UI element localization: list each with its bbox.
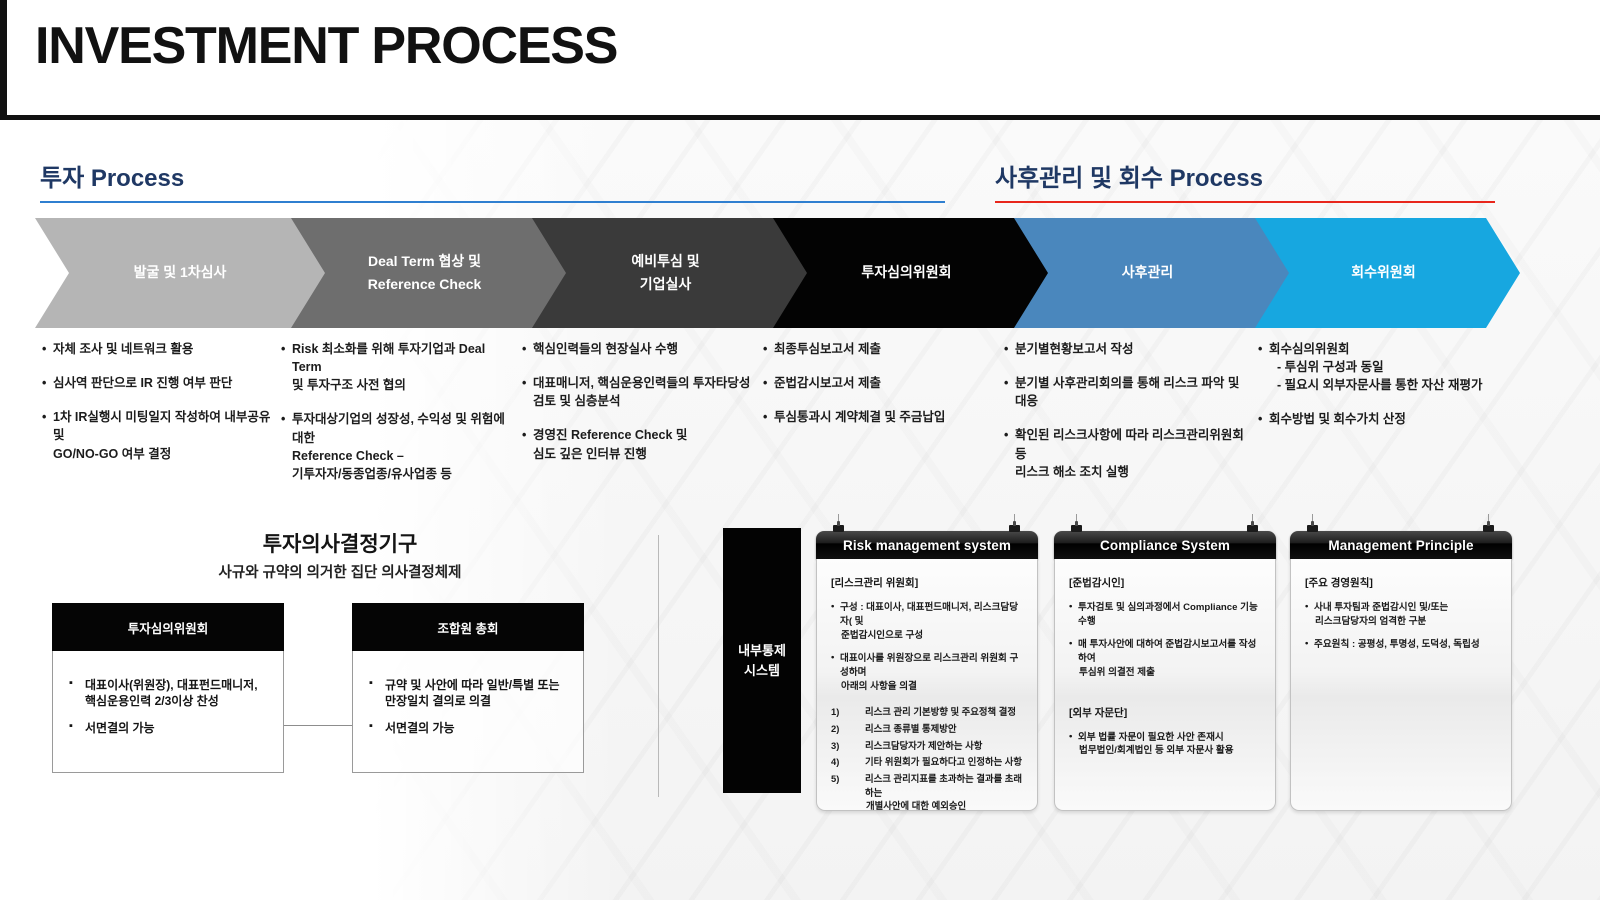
pin-icon [830,514,848,534]
org-box-item-text: 서면결의 가능 [85,721,155,735]
process-stage-label-line: Deal Term 협상 및 [368,250,482,273]
panel-group-title: [주요 경영원칙] [1305,575,1499,590]
process-stage-5[interactable]: 사후관리 [1006,218,1289,328]
stage-bullet-item: 심사역 판단으로 IR 진행 여부 판단 [42,374,274,392]
org-box-item: 서면결의 가능 [369,720,569,736]
panel-bullet-text: 주요원칙 : 공평성, 투명성, 도덕성, 독립성 [1314,639,1480,650]
stage-bullet-item: 대표매니저, 핵심운용인력들의 투자타당성검토 및 심층분석 [522,374,754,410]
process-stage-label: 예비투심 및기업실사 [605,250,725,296]
stage-bullet-continuation: Reference Check – [292,447,513,465]
stage-bullet-subitem: - 투심위 구성과 동일 [1269,358,1513,376]
stage-bullet-item: 투심통과시 계약체결 및 주금납입 [763,408,995,426]
panel-bullet-item: 매 투자사안에 대하여 준법감시보고서를 작성하여투심위 의결전 제출 [1069,638,1263,680]
stage-bullet-item: 확인된 리스크사항에 따라 리스크관리위원회 등리스크 해소 조치 실행 [1004,426,1244,480]
pin-icon [1480,514,1498,534]
stage-bullet-item: 경영진 Reference Check 및심도 깊은 인터뷰 진행 [522,426,754,462]
org-box-2[interactable]: 조합원 총회규약 및 사안에 따라 일반/특별 또는만장일치 결의로 의결서면결… [352,603,584,773]
process-stage-label-line: 예비투심 및 [631,250,699,273]
stage-bullet-item: 핵심인력들의 현장실사 수행 [522,340,754,358]
process-stage-label-line: 투자심의위원회 [861,261,951,284]
panel-bullet-continuation: 리스크담당자의 엄격한 구분 [1314,615,1499,629]
panel-bullet-item: 구성 : 대표이사, 대표펀드매니저, 리스크담당자( 및준법감시인으로 구성 [831,601,1025,643]
process-stage-label-line: 회수위원회 [1351,261,1415,284]
page-title: INVESTMENT PROCESS [35,16,617,76]
stage-bullet-subitem: - 필요시 외부자문사를 통한 자산 재평가 [1269,376,1513,394]
section-rule-post-management [995,201,1495,203]
panel-bullet-continuation: 투심위 의결전 제출 [1078,666,1263,680]
panel-bullet-continuation: 아래의 사항을 의결 [840,680,1025,694]
stage-bullet-item: 최종투심보고서 제출 [763,340,995,358]
pin-icon [1068,514,1086,534]
panel-group-title: [리스크관리 위원회] [831,575,1025,590]
panel-bullet-text: 구성 : 대표이사, 대표펀드매니저, 리스크담당자( 및 [840,602,1018,627]
org-connector-line [283,725,353,726]
panel-group-title: [준법감시인] [1069,575,1263,590]
panel-bullet-item: 주요원칙 : 공평성, 투명성, 도덕성, 독립성 [1305,638,1499,652]
panel-numbered-item: 리스크담당자가 제안하는 사항 [831,739,1025,753]
org-box-item-text: 대표이사(위원장), 대표펀드매니저, [85,678,258,692]
org-box-item-continuation: 만장일치 결의로 의결 [385,693,569,709]
stage-bullet-list-6: 회수심의위원회- 투심위 구성과 동일- 필요시 외부자문사를 통한 자산 재평… [1258,340,1513,445]
panel-title: Management Principle [1290,531,1512,559]
process-stage-label: 사후관리 [1096,261,1200,284]
org-box-item-text: 규약 및 사안에 따라 일반/특별 또는 [385,678,560,692]
stage-bullet-text: 분기별현황보고서 작성 [1015,342,1133,356]
org-box-item-text: 서면결의 가능 [385,721,455,735]
stage-bullet-list-2: Risk 최소화를 위해 투자기업과 Deal Term및 투자구조 사전 협의… [281,340,513,499]
org-box-item: 규약 및 사안에 따라 일반/특별 또는만장일치 결의로 의결 [369,677,569,709]
stage-bullet-text: 1차 IR실행시 미팅일지 작성하여 내부공유 및 [53,410,270,442]
stage-bullet-text: 확인된 리스크사항에 따라 리스크관리위원회 등 [1015,428,1244,460]
process-stage-label-line: 발굴 및 1차심사 [134,261,227,284]
stage-bullet-item: 투자대상기업의 성장성, 수익성 및 위험에 대한Reference Check… [281,410,513,483]
panel-bullet-list: 투자검토 및 심의과정에서 Compliance 기능 수행매 투자사안에 대하… [1069,601,1263,680]
process-stage-label: 발굴 및 1차심사 [108,261,253,284]
panel-bullet-text: 매 투자사안에 대하여 준법감시보고서를 작성하여 [1078,639,1256,664]
panel-hanging-pins [1054,514,1276,534]
section-divider [658,535,659,797]
panel-compliance-system[interactable]: Compliance System[준법감시인]투자검토 및 심의과정에서 Co… [1054,531,1276,811]
stage-bullet-item: 1차 IR실행시 미팅일지 작성하여 내부공유 및GO/NO-GO 여부 결정 [42,408,274,462]
process-stage-label-line: Reference Check [368,273,482,296]
panel-numbered-item: 리스크 종류별 통제방안 [831,722,1025,736]
org-box-item: 대표이사(위원장), 대표펀드매니저,핵심운용인력 2/3이상 찬성 [69,677,269,709]
process-stage-band: 발굴 및 1차심사Deal Term 협상 및Reference Check예비… [0,218,1600,328]
panel-spacer [1069,689,1263,705]
pin-icon [1304,514,1322,534]
stage-bullet-item: 준법감시보고서 제출 [763,374,995,392]
panel-numbered-text: 기타 위원회가 필요하다고 인정하는 사항 [865,756,1022,767]
stage-bullet-list-3: 핵심인력들의 현장실사 수행대표매니저, 핵심운용인력들의 투자타당성검토 및 … [522,340,754,479]
stage-bullet-text: 투자대상기업의 성장성, 수익성 및 위험에 대한 [292,412,505,444]
stage-bullet-list-5: 분기별현황보고서 작성분기별 사후관리회의를 통해 리스크 파악 및 대응확인된… [1004,340,1244,497]
process-stage-2[interactable]: Deal Term 협상 및Reference Check [283,218,566,328]
page-header: INVESTMENT PROCESS [0,0,1600,120]
panel-body: [리스크관리 위원회]구성 : 대표이사, 대표펀드매니저, 리스크담당자( 및… [816,559,1038,811]
stage-bullet-continuation: 검토 및 심층분석 [533,392,754,410]
panel-bullet-continuation: 법무법인/회계법인 등 외부 자문사 활용 [1078,744,1263,758]
stage-bullet-text: 핵심인력들의 현장실사 수행 [533,342,678,356]
stage-bullet-continuation: 리스크 해소 조치 실행 [1015,463,1244,481]
process-stage-label: Deal Term 협상 및Reference Check [342,250,508,296]
stage-bullet-text: 경영진 Reference Check 및 [533,428,687,442]
panel-risk-management-system[interactable]: Risk management system[리스크관리 위원회]구성 : 대표… [816,531,1038,811]
panel-management-principle[interactable]: Management Principle[주요 경영원칙]사내 투자팀과 준법감… [1290,531,1512,811]
org-box-1[interactable]: 투자심의위원회대표이사(위원장), 대표펀드매니저,핵심운용인력 2/3이상 찬… [52,603,284,773]
decision-org-title: 투자의사결정기구 [60,528,620,558]
internal-control-line-2: 시스템 [744,663,780,678]
internal-control-line-1: 내부통제 [738,643,786,658]
panel-bullet-text: 사내 투자팀과 준법감시인 및/또는 [1314,602,1448,613]
panel-title: Compliance System [1054,531,1276,559]
stage-bullet-continuation: 기투자자/동종업종/유사업종 등 [292,465,513,483]
panel-bullet-text: 투자검토 및 심의과정에서 Compliance 기능 수행 [1078,602,1258,627]
panel-numbered-item: 리스크 관리 기본방향 및 주요정책 결정 [831,705,1025,719]
panel-bullet-text: 외부 법률 자문이 필요한 사안 존재시 [1078,732,1224,743]
stage-bullet-continuation: GO/NO-GO 여부 결정 [53,445,274,463]
stage-bullet-continuation: 및 투자구조 사전 협의 [292,376,513,394]
org-box-item: 서면결의 가능 [69,720,269,736]
org-box-body: 대표이사(위원장), 대표펀드매니저,핵심운용인력 2/3이상 찬성서면결의 가… [52,651,284,773]
process-stage-label: 회수위원회 [1325,261,1441,284]
stage-bullet-list-1: 자체 조사 및 네트워크 활용심사역 판단으로 IR 진행 여부 판단1차 IR… [42,340,274,479]
org-box-body: 규약 및 사안에 따라 일반/특별 또는만장일치 결의로 의결서면결의 가능 [352,651,584,773]
panel-title: Risk management system [816,531,1038,559]
pin-icon [1244,514,1262,534]
panel-body: [준법감시인]투자검토 및 심의과정에서 Compliance 기능 수행매 투… [1054,559,1276,811]
stage-bullet-text: 대표매니저, 핵심운용인력들의 투자타당성 [533,376,750,390]
decision-org-subtitle: 사규와 규약의 의거한 집단 의사결정체제 [60,561,620,582]
panel-hanging-pins [1290,514,1512,534]
stage-bullet-text: 회수심의위원회 [1269,342,1350,356]
stage-bullet-text: 투심통과시 계약체결 및 주금납입 [774,410,945,424]
section-heading-investment: 투자 Process [40,158,945,203]
process-stage-1[interactable]: 발굴 및 1차심사 [35,218,325,328]
process-stage-3[interactable]: 예비투심 및기업실사 [524,218,807,328]
panel-bullet-item: 투자검토 및 심의과정에서 Compliance 기능 수행 [1069,601,1263,629]
org-box-item-continuation: 핵심운용인력 2/3이상 찬성 [85,693,269,709]
panel-bullet-continuation: 준법감시인으로 구성 [840,629,1025,643]
process-stage-label: 투자심의위원회 [835,261,977,284]
panel-bullet-list: 구성 : 대표이사, 대표펀드매니저, 리스크담당자( 및준법감시인으로 구성대… [831,601,1025,693]
panel-body: [주요 경영원칙]사내 투자팀과 준법감시인 및/또는리스크담당자의 엄격한 구… [1290,559,1512,811]
stage-bullet-text: 회수방법 및 회수가치 산정 [1269,412,1406,426]
stage-bullet-item: 회수심의위원회- 투심위 구성과 동일- 필요시 외부자문사를 통한 자산 재평… [1258,340,1513,394]
panel-numbered-list: 리스크 관리 기본방향 및 주요정책 결정리스크 종류별 통제방안리스크담당자가… [831,705,1025,812]
panel-numbered-item: 리스크 관리지표를 초과하는 결과를 초래하는개별사안에 대한 예외승인 [831,772,1025,813]
panel-numbered-text: 리스크 종류별 통제방안 [865,723,956,734]
stage-bullet-list-4: 최종투심보고서 제출준법감시보고서 제출투심통과시 계약체결 및 주금납입 [763,340,995,442]
process-stage-4[interactable]: 투자심의위원회 [765,218,1048,328]
panel-bullet-list: 외부 법률 자문이 필요한 사안 존재시법무법인/회계법인 등 외부 자문사 활… [1069,731,1263,759]
panel-bullet-item: 외부 법률 자문이 필요한 사안 존재시법무법인/회계법인 등 외부 자문사 활… [1069,731,1263,759]
org-box-caption: 조합원 총회 [352,603,584,651]
section-heading-post-management: 사후관리 및 회수 Process [995,158,1495,203]
stage-bullet-item: 자체 조사 및 네트워크 활용 [42,340,274,358]
stage-bullet-text: 자체 조사 및 네트워크 활용 [53,342,193,356]
stage-bullet-text: 분기별 사후관리회의를 통해 리스크 파악 및 대응 [1015,376,1239,408]
internal-control-system-bar: 내부통제 시스템 [723,528,801,793]
panel-numbered-item: 기타 위원회가 필요하다고 인정하는 사항 [831,755,1025,769]
panel-numbered-text: 리스크 관리지표를 초과하는 결과를 초래하는 [865,773,1022,798]
process-stage-label-line: 사후관리 [1122,261,1174,284]
stage-bullet-item: 분기별 사후관리회의를 통해 리스크 파악 및 대응 [1004,374,1244,410]
panel-bullet-item: 사내 투자팀과 준법감시인 및/또는리스크담당자의 엄격한 구분 [1305,601,1499,629]
decision-org-title-block: 투자의사결정기구 사규와 규약의 의거한 집단 의사결정체제 [60,528,620,582]
section-label-post-management: 사후관리 및 회수 Process [995,158,1495,193]
section-label-investment: 투자 Process [40,158,945,193]
stage-bullet-text: 준법감시보고서 제출 [774,376,881,390]
stage-bullet-item: Risk 최소화를 위해 투자기업과 Deal Term및 투자구조 사전 협의 [281,340,513,394]
panel-bullet-text: 대표이사를 위원장으로 리스크관리 위원회 구성하며 [840,653,1018,678]
panel-bullet-list: 사내 투자팀과 준법감시인 및/또는리스크담당자의 엄격한 구분주요원칙 : 공… [1305,601,1499,652]
stage-bullet-text: 심사역 판단으로 IR 진행 여부 판단 [53,376,232,390]
stage-bullet-text: Risk 최소화를 위해 투자기업과 Deal Term [292,342,485,374]
panel-numbered-continuation: 개별사안에 대한 예외승인 [865,799,1025,813]
org-box-caption: 투자심의위원회 [52,603,284,651]
pin-icon [1006,514,1024,534]
stage-bullet-text: 최종투심보고서 제출 [774,342,881,356]
stage-bullet-item: 회수방법 및 회수가치 산정 [1258,410,1513,428]
stage-bullet-continuation: 심도 깊은 인터뷰 진행 [533,445,754,463]
stage-bullet-item: 분기별현황보고서 작성 [1004,340,1244,358]
section-rule-investment [40,201,945,203]
panel-group-title: [외부 자문단] [1069,705,1263,720]
panel-hanging-pins [816,514,1038,534]
panel-numbered-text: 리스크담당자가 제안하는 사항 [865,740,982,751]
panel-numbered-text: 리스크 관리 기본방향 및 주요정책 결정 [865,706,1016,717]
process-stage-label-line: 기업실사 [631,273,699,296]
panel-bullet-item: 대표이사를 위원장으로 리스크관리 위원회 구성하며아래의 사항을 의결 [831,652,1025,694]
